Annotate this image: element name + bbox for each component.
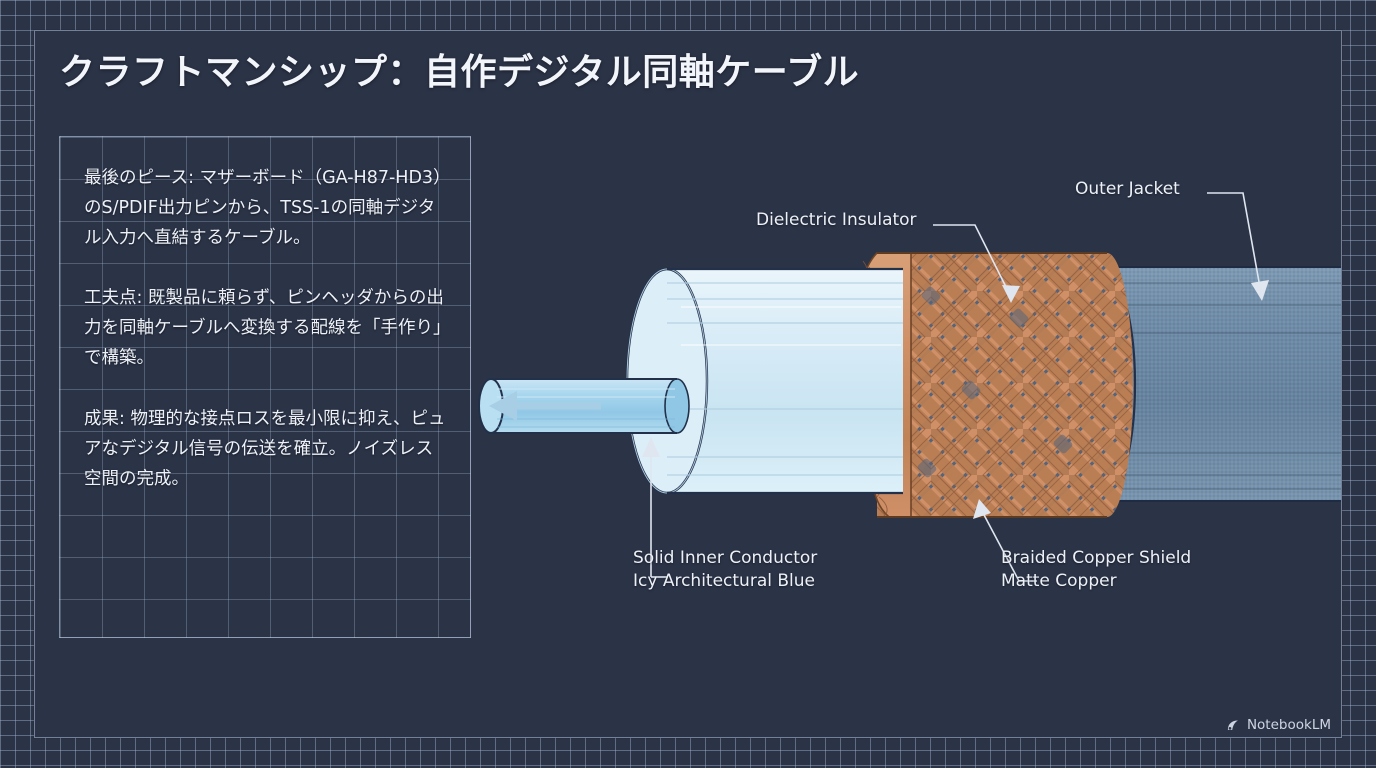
paragraph-last-piece: 最後のピース: マザーボード（GA-H87-HD3）のS/PDIF出力ピンから、… [84,163,446,253]
label-inner-conductor: Solid Inner Conductor Icy Architectural … [633,547,817,593]
label-outer-jacket: Outer Jacket [1075,178,1180,201]
coax-cable-diagram [471,61,1342,701]
label-dielectric-line1: Dielectric Insulator [756,209,917,232]
paragraph-craft-point: 工夫点: 既製品に頼らず、ピンヘッダからの出力を同軸ケーブルへ変換する配線を「手… [84,283,446,373]
slide-inner-panel: クラフトマンシップ：自作デジタル同軸ケーブル 最後のピース: マザーボード（GA… [34,30,1342,738]
label-braid-line2: Matte Copper [1001,570,1191,593]
paragraph-result: 成果: 物理的な接点ロスを最小限に抑え、ピュアなデジタル信号の伝送を確立。ノイズ… [84,404,446,494]
label-braided-shield: Braided Copper Shield Matte Copper [1001,547,1191,593]
description-card: 最後のピース: マザーボード（GA-H87-HD3）のS/PDIF出力ピンから、… [59,136,471,638]
notebooklm-watermark: NotebookLM [1226,717,1331,733]
label-dielectric-insulator: Dielectric Insulator [756,209,917,232]
notebooklm-label: NotebookLM [1247,717,1331,733]
label-inner-line2: Icy Architectural Blue [633,570,817,593]
label-jacket-line1: Outer Jacket [1075,178,1180,201]
slide-root: クラフトマンシップ：自作デジタル同軸ケーブル 最後のピース: マザーボード（GA… [0,0,1376,768]
label-inner-line1: Solid Inner Conductor [633,547,817,570]
label-braid-line1: Braided Copper Shield [1001,547,1191,570]
notebooklm-logo-icon [1226,718,1241,733]
